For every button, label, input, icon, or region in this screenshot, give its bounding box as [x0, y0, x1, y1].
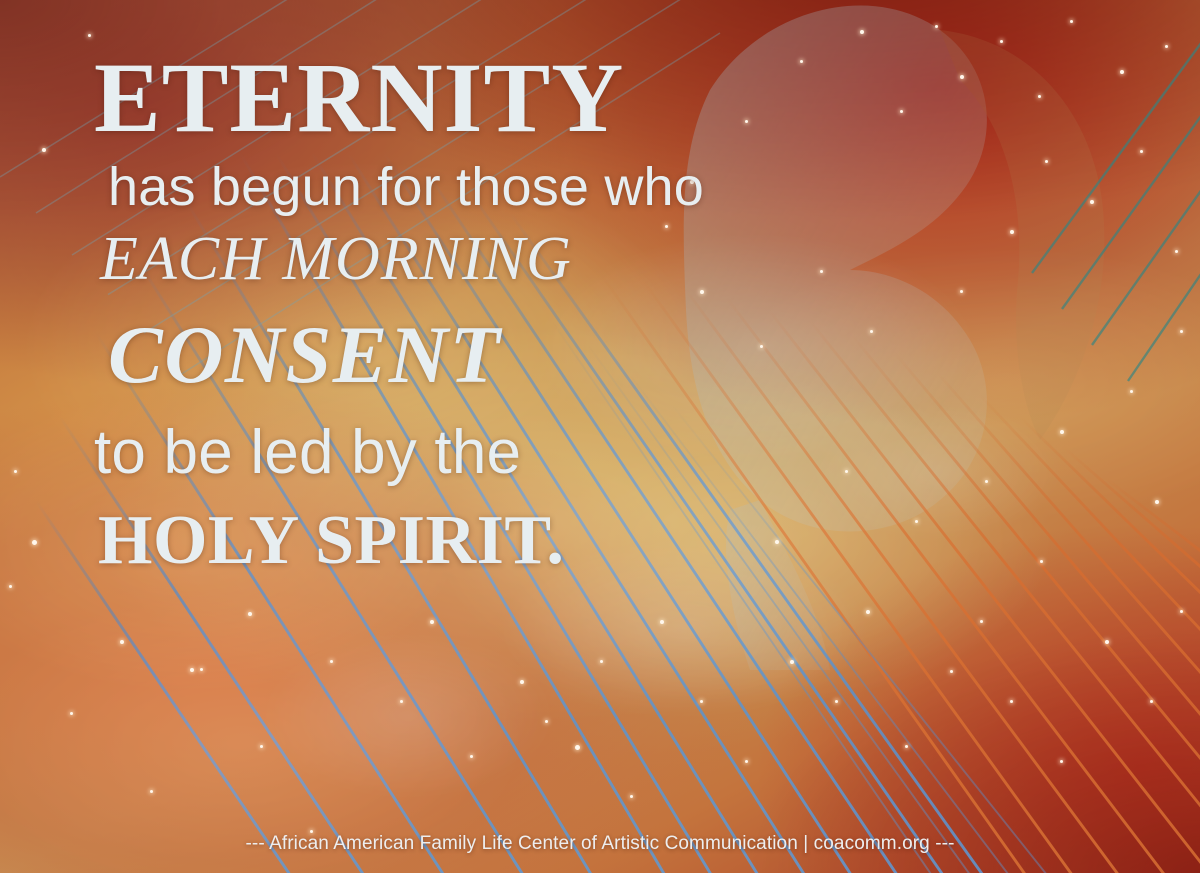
- quote-line-each-morning: EACH MORNING: [100, 228, 660, 290]
- quote-line-has-begun: has begun for those who: [108, 160, 660, 214]
- quote-line-eternity: ETERNITY: [94, 48, 660, 148]
- dove-silhouette-icon: [640, 0, 1160, 670]
- quote-line-to-be-led: to be led by the: [94, 422, 660, 484]
- quote-line-holy-spirit: HOLY SPIRIT.: [98, 506, 660, 576]
- quote-poster: ETERNITY has begun for those who EACH MO…: [0, 0, 1200, 873]
- footer-credit: --- African American Family Life Center …: [0, 833, 1200, 855]
- quote-line-consent: CONSENT: [108, 314, 660, 396]
- footer-credit-text: --- African American Family Life Center …: [245, 833, 954, 855]
- quote-text-block: ETERNITY has begun for those who EACH MO…: [0, 0, 660, 576]
